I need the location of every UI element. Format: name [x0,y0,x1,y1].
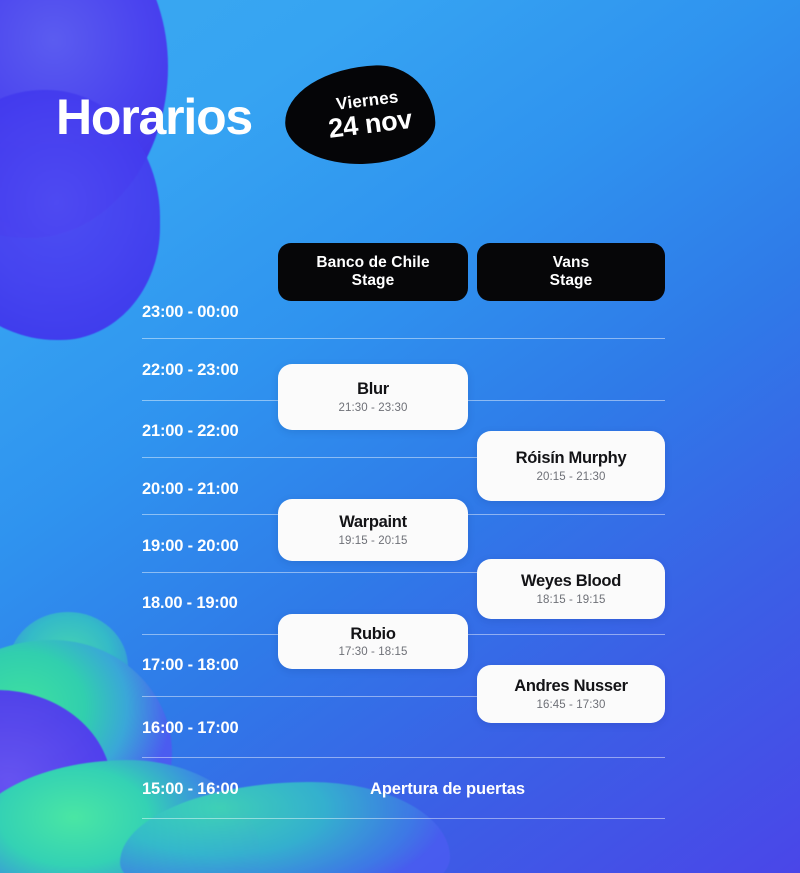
time-label: 19:00 - 20:00 [142,537,238,556]
time-label: 18.00 - 19:00 [142,594,238,613]
time-label: 16:00 - 17:00 [142,719,238,738]
performance-artist: Róisín Murphy [516,449,627,468]
schedule-grid: 23:00 - 00:00 22:00 - 23:00 21:00 - 22:0… [0,0,800,873]
performance-card-andres-nusser[interactable]: Andres Nusser 16:45 - 17:30 [477,665,665,723]
row-divider [142,338,665,339]
performance-artist: Warpaint [339,513,407,532]
performance-card-warpaint[interactable]: Warpaint 19:15 - 20:15 [278,499,468,561]
time-label: 17:00 - 18:00 [142,656,238,675]
schedule-poster: Horarios Viernes 24 nov Banco de Chile S… [0,0,800,873]
performance-time: 20:15 - 21:30 [536,471,605,483]
performance-artist: Rubio [350,625,395,644]
performance-time: 17:30 - 18:15 [338,646,407,658]
row-divider [142,818,665,819]
performance-time: 16:45 - 17:30 [536,699,605,711]
performance-card-weyes-blood[interactable]: Weyes Blood 18:15 - 19:15 [477,559,665,619]
row-divider [142,757,665,758]
performance-time: 18:15 - 19:15 [536,594,605,606]
time-label: 23:00 - 00:00 [142,303,238,322]
performance-card-roisin-murphy[interactable]: Róisín Murphy 20:15 - 21:30 [477,431,665,501]
performance-card-blur[interactable]: Blur 21:30 - 23:30 [278,364,468,430]
performance-time: 21:30 - 23:30 [338,402,407,414]
performance-time: 19:15 - 20:15 [338,535,407,547]
time-label: 22:00 - 23:00 [142,361,238,380]
performance-artist: Blur [357,380,389,399]
performance-card-rubio[interactable]: Rubio 17:30 - 18:15 [278,614,468,669]
doors-open-note: Apertura de puertas [370,780,525,799]
time-label: 15:00 - 16:00 [142,780,238,799]
time-label: 20:00 - 21:00 [142,480,238,499]
performance-artist: Andres Nusser [514,677,627,696]
time-label: 21:00 - 22:00 [142,422,238,441]
performance-artist: Weyes Blood [521,572,621,591]
